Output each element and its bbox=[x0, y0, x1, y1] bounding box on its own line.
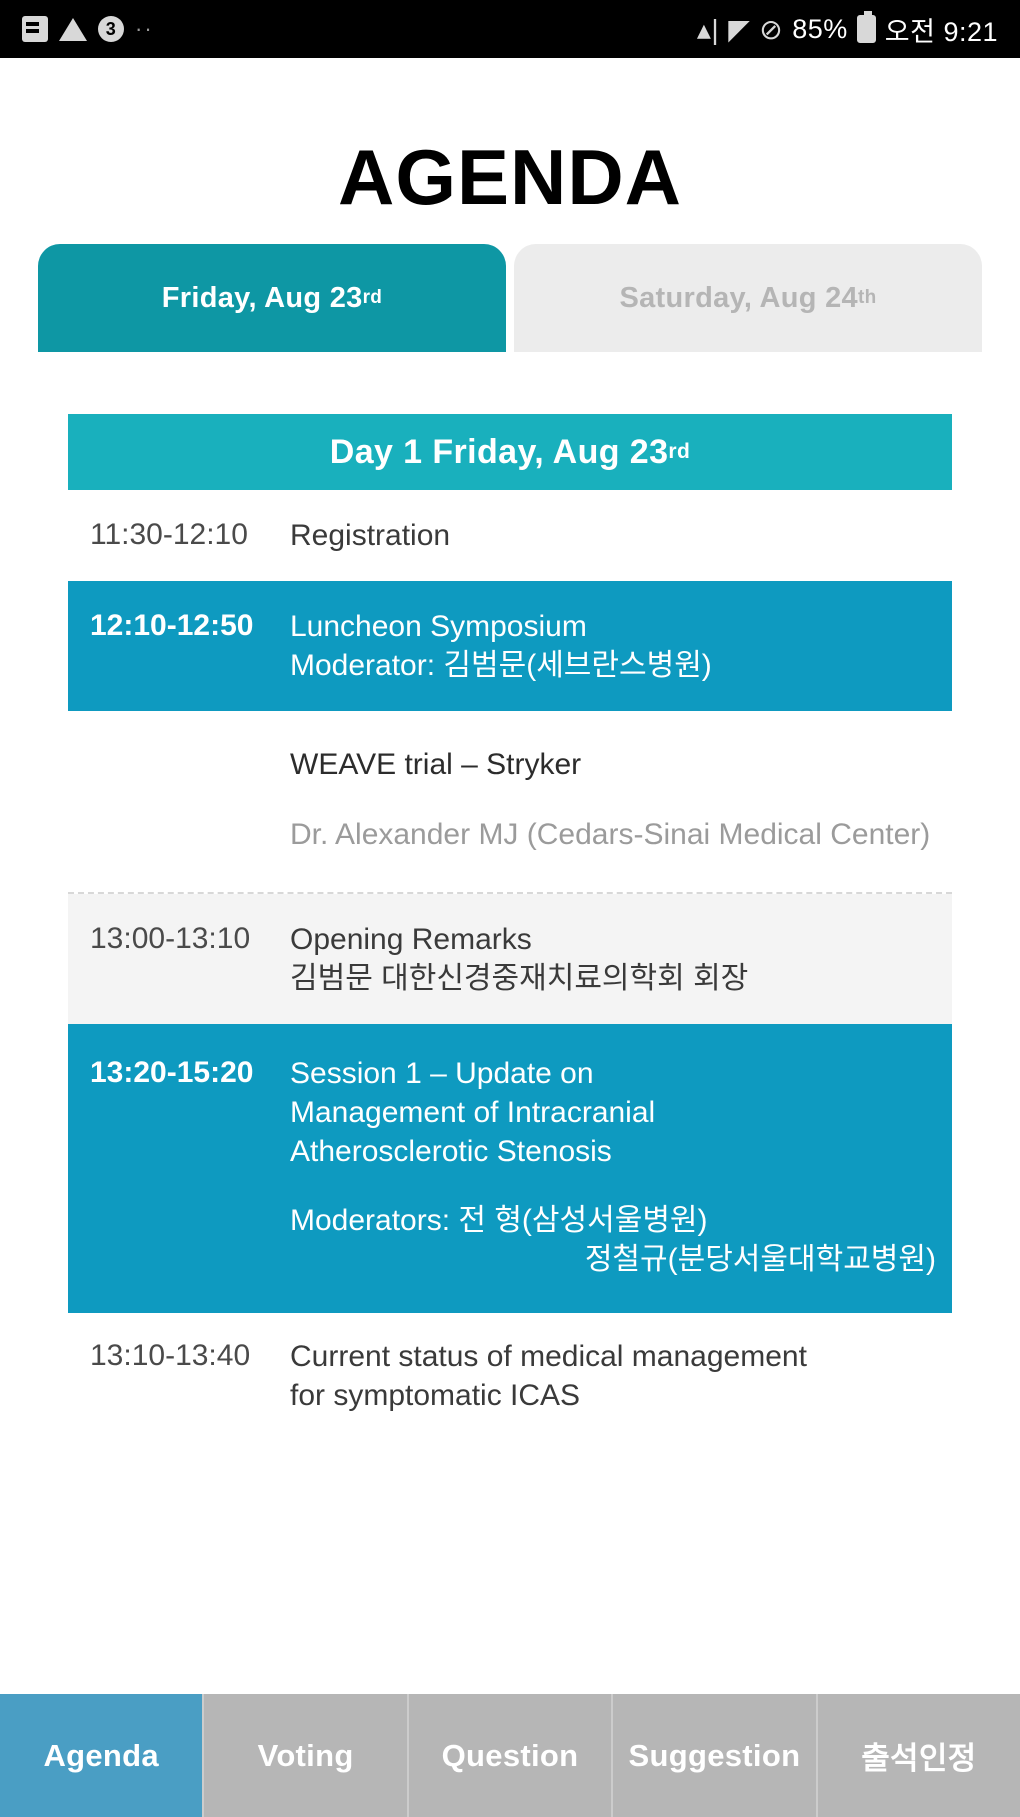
row-line: Session 1 – Update on bbox=[290, 1054, 936, 1093]
warning-triangle-icon bbox=[59, 18, 87, 41]
table-row[interactable]: 11:30-12:10 Registration bbox=[68, 490, 952, 581]
row-body: Current status of medical management for… bbox=[290, 1337, 952, 1415]
badge-count-icon: 3 bbox=[98, 16, 124, 42]
status-bar: 3 ·· ▴| ◤ ⊘ 85% 오전 9:21 bbox=[0, 0, 1020, 58]
tab-friday-sup: rd bbox=[363, 287, 383, 309]
tab-saturday-label: Saturday, Aug 24 bbox=[619, 282, 857, 315]
speaker-affiliation: (Cedars-Sinai Medical Center) bbox=[527, 818, 930, 851]
status-bar-left: 3 ·· bbox=[22, 16, 154, 42]
wifi-icon: ◤ bbox=[728, 13, 750, 46]
tab-saturday[interactable]: Saturday, Aug 24th bbox=[514, 244, 982, 352]
row-title: WEAVE trial – Stryker bbox=[290, 745, 952, 785]
row-time: 12:10-12:50 bbox=[68, 607, 290, 685]
day-tabs: Friday, Aug 23rd Saturday, Aug 24th bbox=[0, 244, 1020, 352]
row-line: for symptomatic ICAS bbox=[290, 1376, 936, 1415]
moderator-line: 정철규(분당서울대학교병원) bbox=[290, 1240, 936, 1279]
speaker-name: Dr. Alexander MJ bbox=[290, 818, 518, 851]
agenda-scroll-area[interactable]: Day 1 Friday, Aug 23rd 11:30-12:10 Regis… bbox=[0, 368, 1020, 1694]
row-time bbox=[68, 815, 290, 855]
row-line: Registration bbox=[290, 516, 936, 555]
speaker-row: Dr. Alexander MJ (Cedars-Sinai Medical C… bbox=[68, 793, 952, 877]
row-time bbox=[68, 745, 290, 785]
row-line: Luncheon Symposium bbox=[290, 607, 936, 646]
day-header-sup: rd bbox=[668, 440, 690, 464]
row-body: Registration bbox=[290, 516, 952, 555]
row-time: 13:10-13:40 bbox=[68, 1337, 290, 1415]
nav-item-label: Question bbox=[442, 1738, 579, 1774]
day-header-label: Day 1 Friday, Aug 23 bbox=[330, 433, 669, 472]
moderator-line: Moderators: 전 형(삼성서울병원) bbox=[290, 1201, 936, 1240]
table-row[interactable]: 13:10-13:40 Current status of medical ma… bbox=[68, 1313, 952, 1441]
signal-icon: ▴| bbox=[697, 13, 719, 46]
nav-item-label: Voting bbox=[258, 1738, 354, 1774]
row-line: Atherosclerotic Stenosis bbox=[290, 1132, 936, 1171]
message-icon bbox=[22, 16, 48, 42]
bottom-navigation: Agenda Voting Question Suggestion 출석인정 bbox=[0, 1694, 1020, 1817]
clock-label: 오전 9:21 bbox=[885, 10, 998, 49]
nav-item-attendance[interactable]: 출석인정 bbox=[818, 1694, 1020, 1817]
row-body: Luncheon Symposium Moderator: 김범문(세브란스병원… bbox=[290, 607, 952, 685]
row-spacer bbox=[290, 1171, 936, 1201]
row-line: Current status of medical management bbox=[290, 1337, 936, 1376]
tab-friday-label: Friday, Aug 23 bbox=[162, 282, 363, 315]
row-body: Opening Remarks 김범문 대한신경중재치료의학회 회장 bbox=[290, 920, 952, 998]
row-line: 김범문 대한신경중재치료의학회 회장 bbox=[290, 959, 936, 998]
nav-item-agenda[interactable]: Agenda bbox=[0, 1694, 204, 1817]
row-line: Moderator: 김범문(세브란스병원) bbox=[290, 646, 936, 685]
row-time: 11:30-12:10 bbox=[68, 516, 290, 555]
row-line: Management of Intracranial bbox=[290, 1093, 936, 1132]
app-screen: 3 ·· ▴| ◤ ⊘ 85% 오전 9:21 AGENDA Friday, A… bbox=[0, 0, 1020, 1817]
row-line: Opening Remarks bbox=[290, 920, 936, 959]
nav-item-label: 출석인정 bbox=[861, 1733, 976, 1778]
battery-icon bbox=[857, 15, 876, 43]
table-row[interactable]: 12:10-12:50 Luncheon Symposium Moderator… bbox=[68, 581, 952, 711]
row-time: 13:20-15:20 bbox=[68, 1054, 290, 1279]
day-header: Day 1 Friday, Aug 23rd bbox=[68, 414, 952, 490]
more-dots-icon: ·· bbox=[135, 16, 154, 42]
speaker-block: Dr. Alexander MJ (Cedars-Sinai Medical C… bbox=[290, 815, 952, 855]
tab-friday[interactable]: Friday, Aug 23rd bbox=[38, 244, 506, 352]
row-body: Session 1 – Update on Management of Intr… bbox=[290, 1054, 952, 1279]
nav-item-voting[interactable]: Voting bbox=[204, 1694, 408, 1817]
nav-item-question[interactable]: Question bbox=[409, 1694, 613, 1817]
row-time: 13:00-13:10 bbox=[68, 920, 290, 998]
battery-percent-label: 85% bbox=[792, 14, 848, 45]
nav-item-suggestion[interactable]: Suggestion bbox=[613, 1694, 817, 1817]
nav-item-label: Agenda bbox=[43, 1738, 158, 1774]
table-row[interactable]: 13:00-13:10 Opening Remarks 김범문 대한신경중재치료… bbox=[68, 894, 952, 1024]
status-bar-right: ▴| ◤ ⊘ 85% 오전 9:21 bbox=[697, 10, 998, 49]
table-row[interactable]: 13:20-15:20 Session 1 – Update on Manage… bbox=[68, 1024, 952, 1313]
mute-icon: ⊘ bbox=[759, 13, 783, 46]
tab-saturday-sup: th bbox=[858, 287, 877, 309]
table-row[interactable]: WEAVE trial – Stryker bbox=[68, 711, 952, 793]
nav-item-label: Suggestion bbox=[629, 1738, 801, 1774]
page-title: AGENDA bbox=[0, 58, 1020, 244]
